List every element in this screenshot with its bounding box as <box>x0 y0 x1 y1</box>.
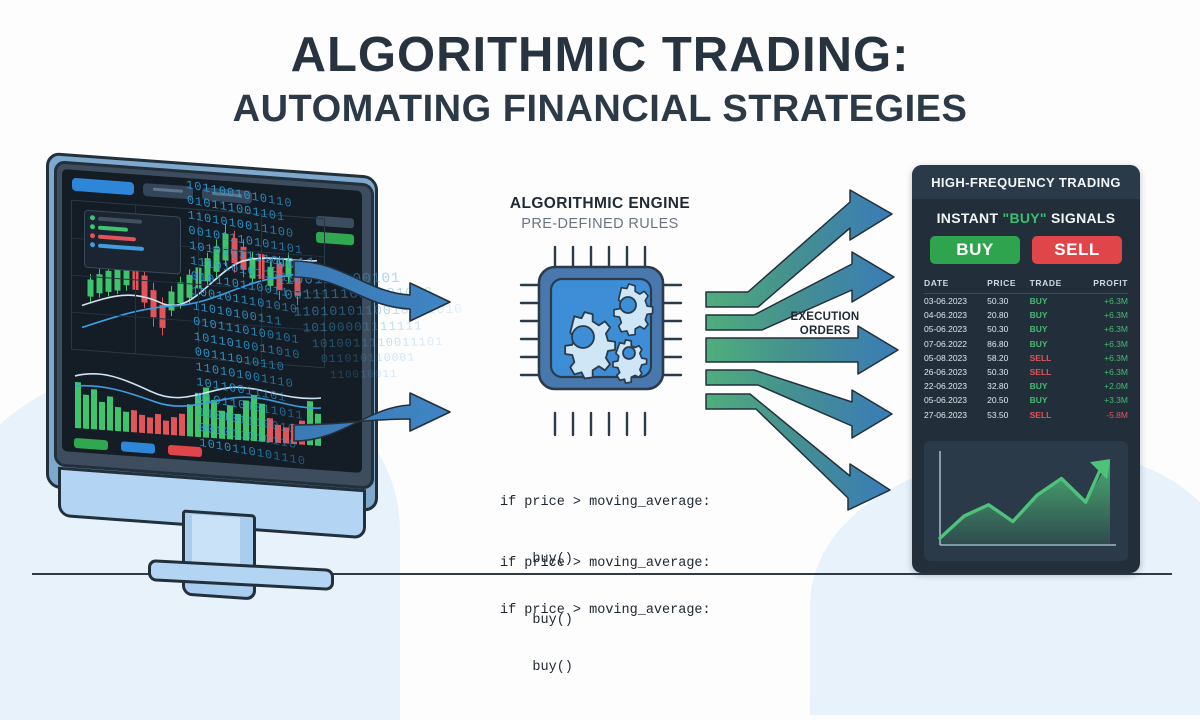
table-row[interactable]: 26-06.202350.30SELL+6.3M <box>924 365 1128 379</box>
algorithmic-engine: ALGORITHMIC ENGINE PRE-DEFINED RULES <box>455 195 745 465</box>
cell-price: 50.30 <box>987 365 1030 379</box>
cell-profit: +3.3M <box>1077 393 1128 407</box>
cell-date: 03-06.2023 <box>924 294 987 309</box>
cell-price: 86.80 <box>987 337 1030 351</box>
ground-line-right <box>915 573 1165 575</box>
instant-buy-signals-label: INSTANT "BUY" SIGNALS <box>912 210 1140 226</box>
cell-profit: +2.0M <box>1077 379 1128 393</box>
table-header-row: DATE PRICE TRADE PROFIT <box>924 278 1128 294</box>
cell-date: 22-06.2023 <box>924 379 987 393</box>
table-row[interactable]: 05-06.202350.30BUY+6.3M <box>924 322 1128 336</box>
cpu-chip-gears-icon <box>517 241 687 441</box>
cell-profit: +6.3M <box>1077 365 1128 379</box>
title-subtitle: AUTOMATING FINANCIAL STRATEGIES <box>0 89 1200 129</box>
cell-date: 04-06.2023 <box>924 308 987 322</box>
cell-trade: BUY <box>1030 337 1077 351</box>
footer-chip-buy[interactable] <box>74 438 108 450</box>
cell-date: 07-06.2022 <box>924 337 987 351</box>
signal-prefix: INSTANT <box>937 210 1003 226</box>
engine-subtitle: PRE-DEFINED RULES <box>455 216 745 232</box>
table-row[interactable]: 03-06.202350.30BUY+6.3M <box>924 294 1128 309</box>
screen-tab-inactive-2[interactable] <box>202 187 252 204</box>
high-frequency-trading-panel: HIGH-FREQUENCY TRADING INSTANT "BUY" SIG… <box>912 165 1140 573</box>
cell-profit: -5.8M <box>1077 408 1128 422</box>
cell-date: 27-06.2023 <box>924 408 987 422</box>
buy-button[interactable]: BUY <box>930 236 1020 264</box>
screen-tab-active[interactable] <box>72 178 134 196</box>
cell-trade: BUY <box>1030 294 1077 309</box>
cell-date: 05-08.2023 <box>924 351 987 365</box>
execution-orders-label: EXECUTION ORDERS <box>772 310 878 338</box>
cell-price: 58.20 <box>987 351 1030 365</box>
cell-trade: BUY <box>1030 308 1077 322</box>
candlestick-chart <box>71 200 325 369</box>
growth-area-chart <box>924 441 1128 561</box>
signal-suffix: SIGNALS <box>1047 210 1116 226</box>
cell-price: 20.80 <box>987 308 1030 322</box>
cell-price: 50.30 <box>987 294 1030 309</box>
cell-trade: BUY <box>1030 393 1077 407</box>
legend-row <box>90 242 175 253</box>
cell-profit: +6.3M <box>1077 322 1128 336</box>
cell-profit: +6.3M <box>1077 294 1128 309</box>
column-header-date: DATE <box>924 278 987 294</box>
column-header-profit: PROFIT <box>1077 278 1128 294</box>
cell-trade: SELL <box>1030 365 1077 379</box>
growth-chart-svg <box>924 441 1128 561</box>
infographic-canvas: ALGORITHMIC TRADING: AUTOMATING FINANCIA… <box>0 0 1200 670</box>
signal-quoted: "BUY" <box>1003 210 1047 226</box>
cell-trade: BUY <box>1030 322 1077 336</box>
cell-date: 26-06.2023 <box>924 365 987 379</box>
cell-trade: SELL <box>1030 351 1077 365</box>
footer-chip-sell[interactable] <box>168 445 202 457</box>
chart-legend <box>84 210 181 275</box>
cell-price: 53.50 <box>987 408 1030 422</box>
input-arrow-top <box>294 261 450 321</box>
code-line-action: buy() <box>500 658 711 677</box>
screen-tabbar <box>72 178 252 204</box>
execution-label-line-2: ORDERS <box>772 324 878 338</box>
execution-label-line-1: EXECUTION <box>772 310 878 324</box>
table-row[interactable]: 22-06.202332.80BUY+2.0M <box>924 379 1128 393</box>
trade-history-table: DATE PRICE TRADE PROFIT 03-06.202350.30B… <box>924 278 1128 422</box>
screen-tab-inactive-1[interactable] <box>143 183 193 200</box>
column-header-trade: TRADE <box>1030 278 1077 294</box>
input-arrow-bottom <box>294 393 450 441</box>
footer-chip-info[interactable] <box>121 441 155 453</box>
cell-date: 05-06.2023 <box>924 393 987 407</box>
engine-title: ALGORITHMIC ENGINE <box>455 195 745 213</box>
cell-date: 05-06.2023 <box>924 322 987 336</box>
table-row[interactable]: 07-06.202286.80BUY+6.3M <box>924 337 1128 351</box>
code-line-condition: if price > moving_average: <box>500 493 711 512</box>
code-snippet-3: if price > moving_average: buy() <box>500 563 711 715</box>
page-title: ALGORITHMIC TRADING: AUTOMATING FINANCIA… <box>0 30 1200 129</box>
title-main: ALGORITHMIC TRADING: <box>0 30 1200 82</box>
cell-trade: BUY <box>1030 379 1077 393</box>
column-header-price: PRICE <box>987 278 1030 294</box>
table-row[interactable]: 05-06.202320.50BUY+3.3M <box>924 393 1128 407</box>
table-row[interactable]: 05-08.202358.20SELL+6.3M <box>924 351 1128 365</box>
cell-trade: SELL <box>1030 408 1077 422</box>
trade-action-buttons: BUY SELL <box>912 236 1140 264</box>
cell-profit: +6.3M <box>1077 337 1128 351</box>
volume-chart <box>71 360 323 451</box>
cell-price: 50.30 <box>987 322 1030 336</box>
cell-profit: +6.3M <box>1077 308 1128 322</box>
cell-price: 20.50 <box>987 393 1030 407</box>
table-row[interactable]: 27-06.202353.50SELL-5.8M <box>924 408 1128 422</box>
panel-header-title: HIGH-FREQUENCY TRADING <box>912 165 1140 199</box>
cell-profit: +6.3M <box>1077 351 1128 365</box>
sell-button[interactable]: SELL <box>1032 236 1122 264</box>
code-line-condition: if price > moving_average: <box>500 601 711 620</box>
table-row[interactable]: 04-06.202320.80BUY+6.3M <box>924 308 1128 322</box>
cell-price: 32.80 <box>987 379 1030 393</box>
